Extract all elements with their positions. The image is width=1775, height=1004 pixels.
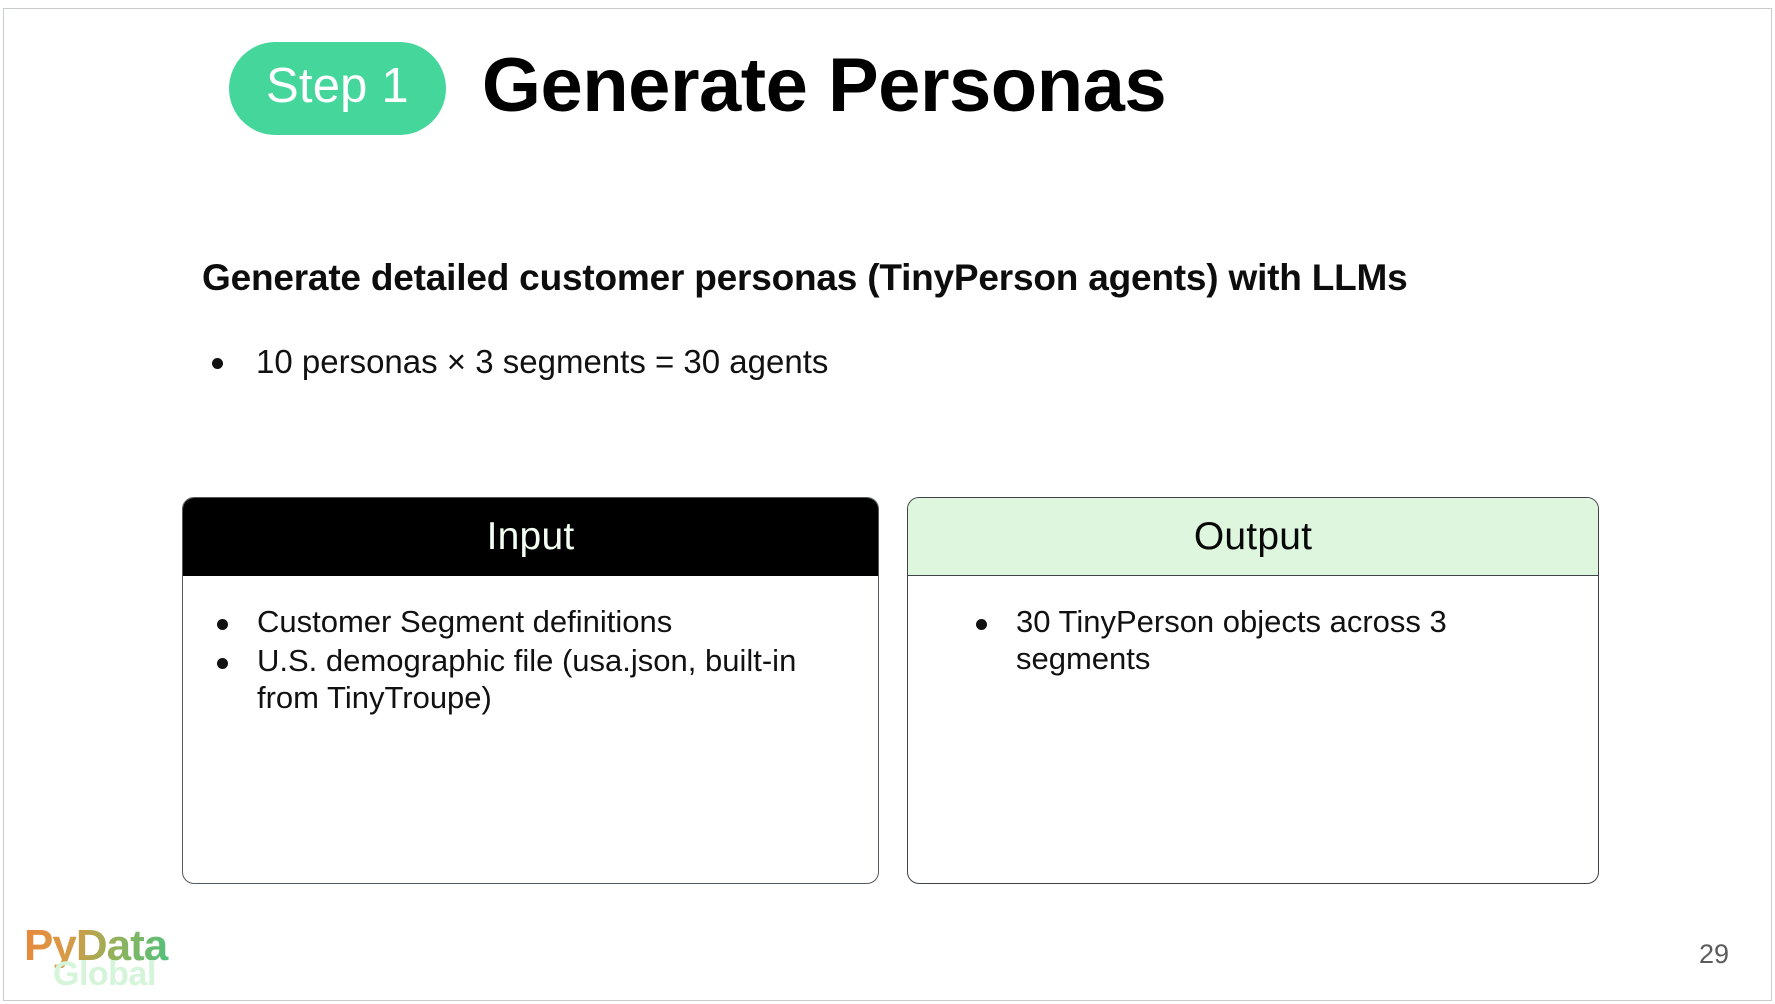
- input-card: Input Customer Segment definitions U.S. …: [182, 497, 879, 884]
- lead-bullet-list: 10 personas × 3 segments = 30 agents: [202, 341, 828, 383]
- output-card-header: Output: [908, 498, 1598, 576]
- title-row: Step 1 Generate Personas: [229, 42, 1166, 135]
- pydata-global-logo: PyData Global: [24, 924, 234, 1001]
- output-card: Output 30 TinyPerson objects across 3 se…: [907, 497, 1599, 884]
- list-item: 10 personas × 3 segments = 30 agents: [202, 341, 828, 383]
- slide-subtitle: Generate detailed customer personas (Tin…: [202, 257, 1408, 299]
- output-bullet-list: 30 TinyPerson objects across 3 segments: [968, 604, 1572, 678]
- logo-global-text: Global: [53, 957, 234, 991]
- list-item: 30 TinyPerson objects across 3 segments: [968, 604, 1572, 678]
- page-number: 29: [1684, 939, 1744, 970]
- output-card-body: 30 TinyPerson objects across 3 segments: [908, 576, 1598, 678]
- input-card-header: Input: [183, 498, 878, 576]
- slide-canvas: Step 1 Generate Personas Generate detail…: [3, 8, 1772, 1001]
- list-item: Customer Segment definitions: [209, 604, 852, 641]
- input-bullet-list: Customer Segment definitions U.S. demogr…: [209, 604, 852, 717]
- list-item: U.S. demographic file (usa.json, built-i…: [209, 643, 852, 717]
- page-title: Generate Personas: [482, 48, 1166, 130]
- step-badge: Step 1: [229, 42, 446, 135]
- input-card-body: Customer Segment definitions U.S. demogr…: [183, 576, 878, 717]
